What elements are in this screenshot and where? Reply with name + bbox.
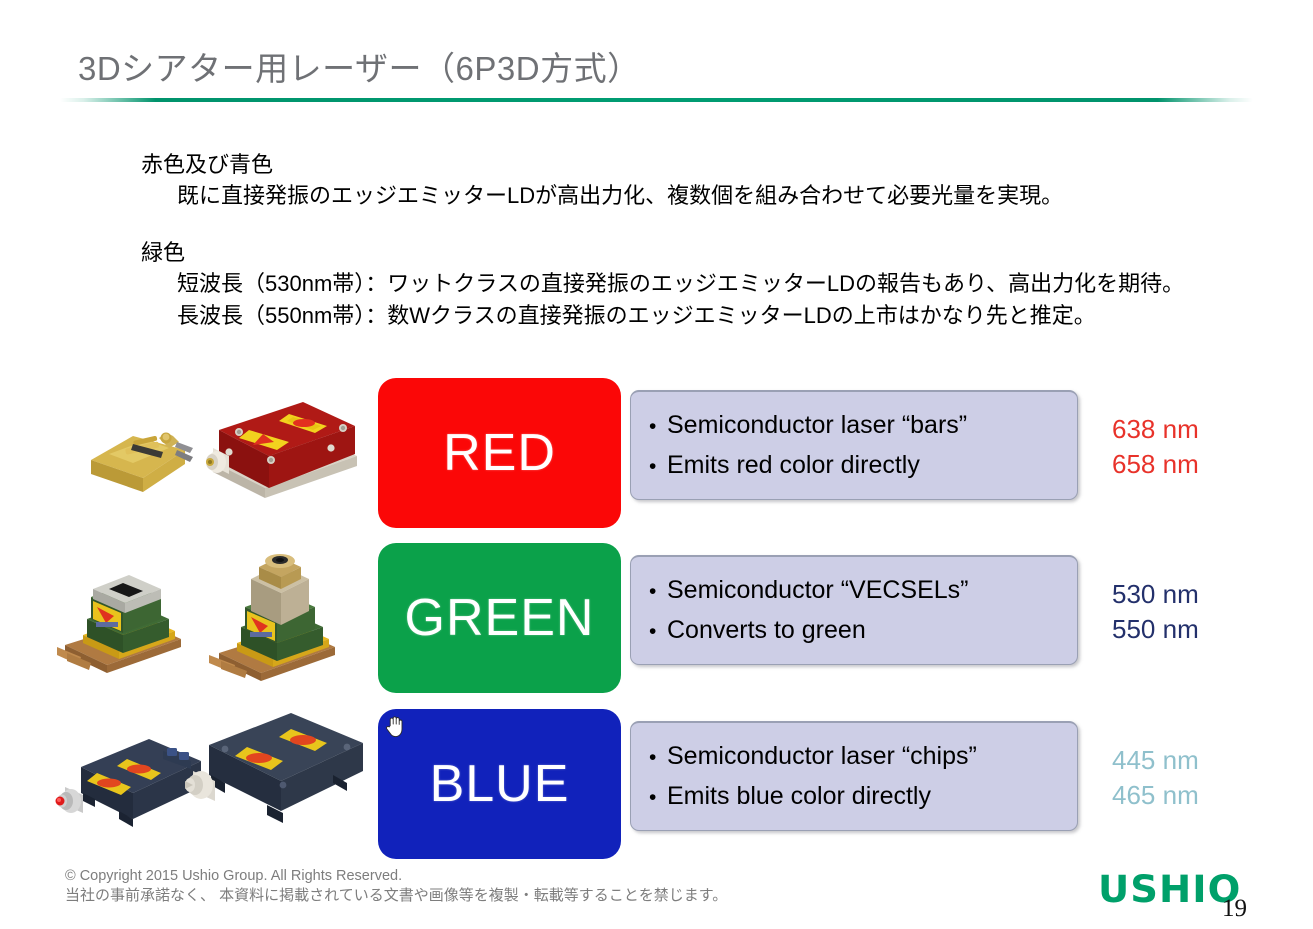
bullet-glyph: • [649, 448, 667, 486]
bullet-glyph: • [649, 779, 667, 817]
gold-laser-diode-bar-photo [73, 408, 203, 493]
page-number: 19 [1222, 895, 1247, 923]
footer-legal-text: © Copyright 2015 Ushio Group. All Rights… [65, 866, 727, 906]
laser-row-green: GREEN • Semiconductor “VECSELs” • Conver… [0, 543, 1313, 693]
description-bullet-green-1: • Semiconductor “VECSELs” [649, 571, 1067, 611]
description-text: Semiconductor laser “chips” [667, 737, 977, 775]
text-block-green: 緑色 短波長（530nm帯）：ワットクラスの直接発振のエッジエミッターLDの報告… [141, 238, 1184, 332]
bullet-glyph: • [649, 408, 667, 446]
description-panel-green: • Semiconductor “VECSELs” • Converts to … [630, 555, 1078, 665]
description-bullet-red-1: • Semiconductor laser “bars” [649, 406, 1067, 446]
wavelength-value: 445 nm [1112, 743, 1272, 778]
description-bullet-blue-1: • Semiconductor laser “chips” [649, 737, 1067, 777]
green-vecsel-module-photo [57, 561, 197, 676]
green-vecsel-module-tall-photo [205, 549, 350, 684]
slide-canvas: 3Dシアター用レーザー（6P3D方式） 赤色及び青色 既に直接発振のエッジエミッ… [0, 0, 1313, 929]
description-panel-red: • Semiconductor laser “bars” • Emits red… [630, 390, 1078, 500]
bullet-glyph: • [649, 739, 667, 777]
product-photos-green [55, 543, 370, 693]
wavelength-value: 530 nm [1112, 577, 1272, 612]
product-photos-red [55, 378, 370, 528]
text-block-green-line-2: 長波長（550nm帯）：数Wクラスの直接発振のエッジエミッターLDの上市はかなり… [141, 300, 1184, 332]
description-bullet-green-2: • Converts to green [649, 611, 1067, 651]
color-chip-blue[interactable]: BLUE [378, 709, 621, 859]
color-chip-red[interactable]: RED [378, 378, 621, 528]
bullet-glyph: • [649, 573, 667, 611]
text-block-red-blue-heading: 赤色及び青色 [141, 150, 1063, 180]
wavelength-value: 658 nm [1112, 447, 1272, 482]
wavelength-value: 550 nm [1112, 612, 1272, 647]
text-block-red-blue-line-1: 既に直接発振のエッジエミッターLDが高出力化、複数個を組み合わせて必要光量を実現… [141, 180, 1063, 212]
text-block-green-heading: 緑色 [141, 238, 1184, 268]
blue-laser-module-large-photo [185, 713, 370, 838]
description-bullet-blue-2: • Emits blue color directly [649, 777, 1067, 817]
red-laser-module-photo [203, 390, 368, 510]
description-text: Semiconductor “VECSELs” [667, 571, 969, 609]
wavelength-value: 465 nm [1112, 778, 1272, 813]
description-text: Emits red color directly [667, 446, 920, 484]
ushio-logo: USHIO [1098, 868, 1241, 911]
blue-laser-module-small-photo [55, 731, 205, 836]
description-text: Emits blue color directly [667, 777, 931, 815]
text-block-red-blue: 赤色及び青色 既に直接発振のエッジエミッターLDが高出力化、複数個を組み合わせて… [141, 150, 1063, 212]
description-text: Semiconductor laser “bars” [667, 406, 967, 444]
footer-restriction: 当社の事前承諾なく、 本資料に掲載されている文書や画像等を複製・転載等することを… [65, 886, 727, 906]
product-photos-blue [55, 709, 370, 859]
title-divider [60, 98, 1253, 102]
wavelength-list-blue: 445 nm 465 nm [1112, 743, 1272, 813]
laser-row-blue: BLUE • Semiconductor laser “chips” • Emi… [0, 709, 1313, 859]
bullet-glyph: • [649, 613, 667, 651]
description-bullet-red-2: • Emits red color directly [649, 446, 1067, 486]
description-text: Converts to green [667, 611, 866, 649]
color-chip-green[interactable]: GREEN [378, 543, 621, 693]
wavelength-list-green: 530 nm 550 nm [1112, 577, 1272, 647]
footer-copyright: © Copyright 2015 Ushio Group. All Rights… [65, 866, 727, 886]
wavelength-list-red: 638 nm 658 nm [1112, 412, 1272, 482]
text-block-green-line-1: 短波長（530nm帯）：ワットクラスの直接発振のエッジエミッターLDの報告もあり… [141, 268, 1184, 300]
wavelength-value: 638 nm [1112, 412, 1272, 447]
page-title: 3Dシアター用レーザー（6P3D方式） [78, 42, 641, 90]
laser-row-red: RED • Semiconductor laser “bars” • Emits… [0, 378, 1313, 528]
description-panel-blue: • Semiconductor laser “chips” • Emits bl… [630, 721, 1078, 831]
